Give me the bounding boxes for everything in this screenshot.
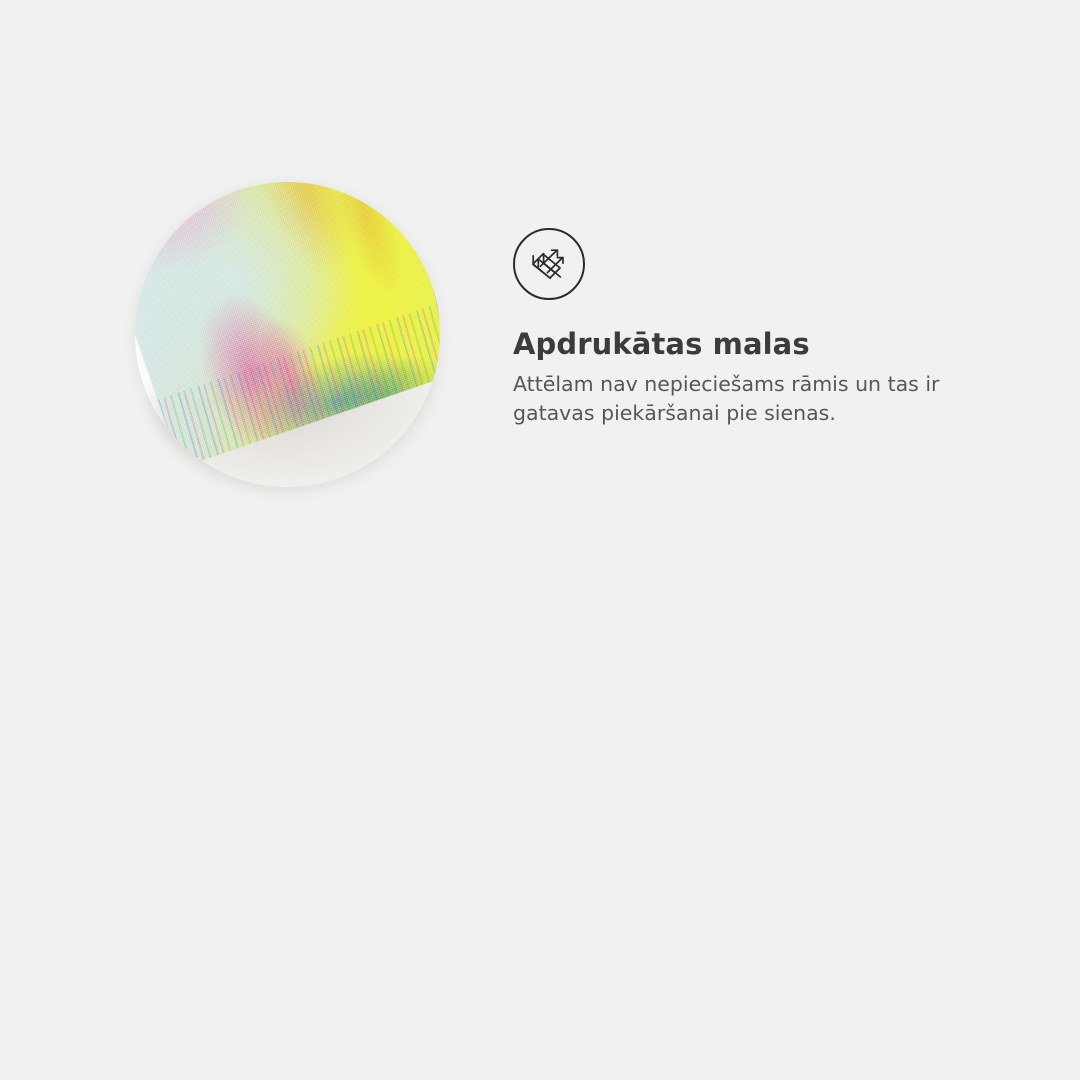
feature-copy-printed-edges: Apdrukātas malas Attēlam nav nepieciešam… [513,228,1013,427]
canvas-printed-face [135,182,440,468]
feature-description: Attēlam nav nepieciešams rāmis un tas ir… [513,370,993,427]
printed-edges-icon [513,228,585,300]
canvas-corner-image [118,165,458,510]
feature-block-printed-edges: Apdrukātas malas Attēlam nav nepieciešam… [0,0,1080,540]
feature-title: Apdrukātas malas [513,328,1013,361]
product-feature-panel: Apdrukātas malas Attēlam nav nepieciešam… [0,0,1080,1080]
canvas-photo-clip [135,182,440,487]
feature-block-eco: EKO produkts Mūsu ražošanas procesā tiek… [0,540,1080,1080]
